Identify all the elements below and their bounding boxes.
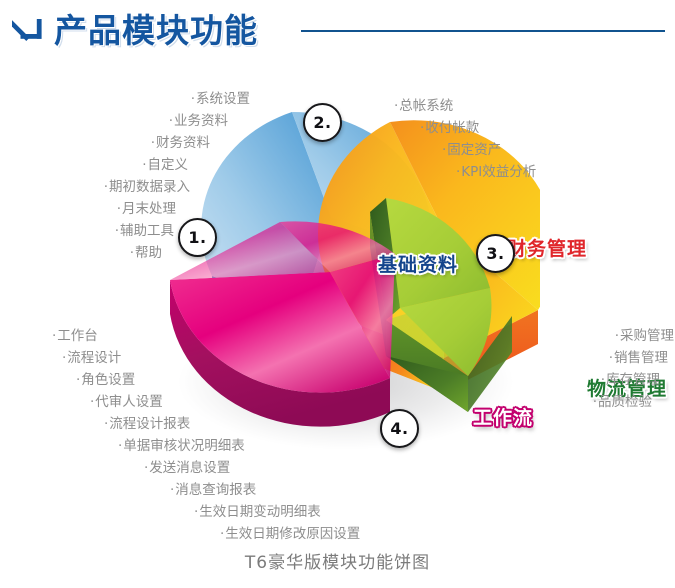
feature-label: 工作台: [57, 328, 98, 344]
list-item: ·自定义: [0, 154, 188, 176]
list-item: ·期初数据录入: [0, 176, 190, 198]
chart-caption: T6豪华版模块功能饼图: [0, 548, 675, 573]
feature-label: 流程设计报表: [109, 416, 190, 432]
slice-marker-3: 3.: [476, 234, 515, 273]
list-item: ·发送消息设置: [144, 457, 472, 479]
feature-label: 生效日期变动明细表: [199, 504, 321, 520]
feature-label: 系统设置: [196, 91, 250, 107]
list-item: ·消息查询报表: [170, 479, 472, 501]
list-item: ·单据审核状况明细表: [118, 435, 472, 457]
feature-list-basic-data: ·系统设置 ·业务资料 ·财务资料 ·自定义 ·期初数据录入 ·月末处理 ·辅助…: [0, 88, 250, 264]
list-item: ·品质检验: [462, 391, 652, 413]
list-item: ·代审人设置: [90, 391, 472, 413]
list-item: ·角色设置: [76, 369, 472, 391]
feature-label: 固定资产: [447, 142, 501, 158]
list-item: ·KPI效益分析: [456, 161, 672, 183]
list-item: ·财务资料: [0, 132, 210, 154]
feature-label: 采购管理: [620, 328, 674, 344]
feature-label: 自定义: [148, 157, 189, 173]
list-item: ·工作台: [52, 325, 472, 347]
feature-label: 收付帐款: [425, 120, 479, 136]
list-item: ·流程设计: [62, 347, 472, 369]
feature-label: 角色设置: [81, 372, 135, 388]
feature-label: 发送消息设置: [149, 460, 230, 476]
feature-items-finance: ·总帐系统 ·收付帐款 ·固定资产 ·KPI效益分析: [382, 95, 672, 183]
feature-items-basic-data: ·系统设置 ·业务资料 ·财务资料 ·自定义 ·期初数据录入 ·月末处理 ·辅助…: [0, 88, 250, 264]
list-item: ·帮助: [0, 242, 162, 264]
list-item: ·总帐系统: [394, 95, 672, 117]
list-item: ·销售管理: [462, 347, 668, 369]
feature-label: 流程设计: [67, 350, 121, 366]
header-divider: [301, 30, 665, 32]
feature-label: 帮助: [135, 245, 162, 261]
feature-label: 单据审核状况明细表: [123, 438, 245, 454]
feature-label: 月末处理: [122, 201, 176, 217]
feature-label: 消息查询报表: [175, 482, 256, 498]
feature-label: 期初数据录入: [109, 179, 190, 195]
list-item: ·生效日期变动明细表: [194, 501, 472, 523]
feature-label: 生效日期修改原因设置: [225, 526, 360, 542]
feature-label: 总帐系统: [399, 98, 453, 114]
list-item: ·业务资料: [0, 110, 228, 132]
list-item: ·月末处理: [0, 198, 176, 220]
list-item: ·收付帐款: [420, 117, 672, 139]
list-item: ·辅助工具: [0, 220, 174, 242]
page-title: 产品模块功能: [54, 4, 258, 52]
feature-label: KPI效益分析: [461, 164, 536, 180]
list-item: ·系统设置: [0, 88, 250, 110]
feature-label: 业务资料: [174, 113, 228, 129]
list-item: ·流程设计报表: [104, 413, 472, 435]
feature-items-logistics: ·采购管理 ·销售管理 ·库存管理 ·品质检验: [462, 325, 674, 413]
feature-label: 财务资料: [156, 135, 210, 151]
feature-label: 代审人设置: [95, 394, 163, 410]
list-item: ·固定资产: [442, 139, 672, 161]
page-header: 产品模块功能: [0, 0, 675, 62]
feature-list-workflow: ·工作台 ·流程设计 ·角色设置 ·代审人设置 ·流程设计报表 ·单据审核状况明…: [52, 325, 472, 545]
feature-label: 品质检验: [598, 394, 652, 410]
slice-marker-2: 2.: [303, 103, 342, 142]
feature-label: 库存管理: [606, 372, 660, 388]
feature-items-workflow: ·工作台 ·流程设计 ·角色设置 ·代审人设置 ·流程设计报表 ·单据审核状况明…: [52, 325, 472, 545]
feature-list-logistics: ·采购管理 ·销售管理 ·库存管理 ·品质检验: [462, 325, 674, 413]
feature-label: 辅助工具: [120, 223, 174, 239]
feature-list-finance: ·总帐系统 ·收付帐款 ·固定资产 ·KPI效益分析: [382, 95, 672, 183]
list-item: ·生效日期修改原因设置: [220, 523, 472, 545]
arrow-down-right-icon: [12, 12, 50, 50]
list-item: ·库存管理: [462, 369, 660, 391]
feature-label: 销售管理: [614, 350, 668, 366]
list-item: ·采购管理: [462, 325, 674, 347]
